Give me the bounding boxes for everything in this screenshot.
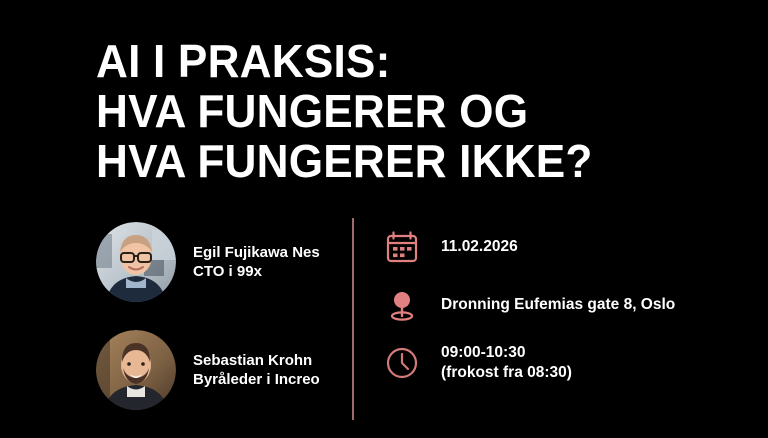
detail-date-value: 11.02.2026 <box>441 237 518 257</box>
title-line-2: HVA FUNGERER OG <box>96 86 691 136</box>
title-line-1: AI I PRAKSIS: <box>96 36 691 86</box>
detail-text: Dronning Eufemias gate 8, Oslo <box>441 295 675 315</box>
detail-row-location: Dronning Eufemias gate 8, Oslo <box>380 276 720 334</box>
speaker-text: Egil Fujikawa Nes CTO i 99x <box>193 243 320 281</box>
location-pin-icon <box>380 283 424 327</box>
clock-icon <box>380 341 424 385</box>
speaker-text: Sebastian Krohn Byråleder i Increo <box>193 351 320 389</box>
speaker-name: Sebastian Krohn <box>193 351 320 370</box>
speaker-role: Byråleder i Increo <box>193 370 320 389</box>
detail-text: 11.02.2026 <box>441 237 518 257</box>
speaker-name: Egil Fujikawa Nes <box>193 243 320 262</box>
event-details: 11.02.2026 Dronning Eufemias gate 8, Osl… <box>380 218 720 392</box>
page-title: AI I PRAKSIS: HVA FUNGERER OG HVA FUNGER… <box>96 36 716 186</box>
detail-row-time: 09:00-10:30 (frokost fra 08:30) <box>380 334 720 392</box>
detail-row-date: 11.02.2026 <box>380 218 720 276</box>
detail-time-note: (frokost fra 08:30) <box>441 363 572 383</box>
speakers-list: Egil Fujikawa Nes CTO i 99x <box>96 218 346 434</box>
detail-time-value: 09:00-10:30 <box>441 343 572 363</box>
speaker-photo-portrait <box>96 330 176 410</box>
vertical-divider <box>352 218 354 420</box>
speaker-item: Sebastian Krohn Byråleder i Increo <box>96 326 346 414</box>
detail-location-value: Dronning Eufemias gate 8, Oslo <box>441 295 675 315</box>
speaker-photo-portrait <box>96 222 176 302</box>
event-poster: AI I PRAKSIS: HVA FUNGERER OG HVA FUNGER… <box>0 0 768 438</box>
title-line-3: HVA FUNGERER IKKE? <box>96 136 691 186</box>
poster-lower-section: Egil Fujikawa Nes CTO i 99x <box>0 210 768 438</box>
speaker-role: CTO i 99x <box>193 262 320 281</box>
avatar <box>96 222 176 302</box>
speaker-item: Egil Fujikawa Nes CTO i 99x <box>96 218 346 306</box>
avatar <box>96 330 176 410</box>
calendar-icon <box>380 225 424 269</box>
detail-text: 09:00-10:30 (frokost fra 08:30) <box>441 343 572 383</box>
